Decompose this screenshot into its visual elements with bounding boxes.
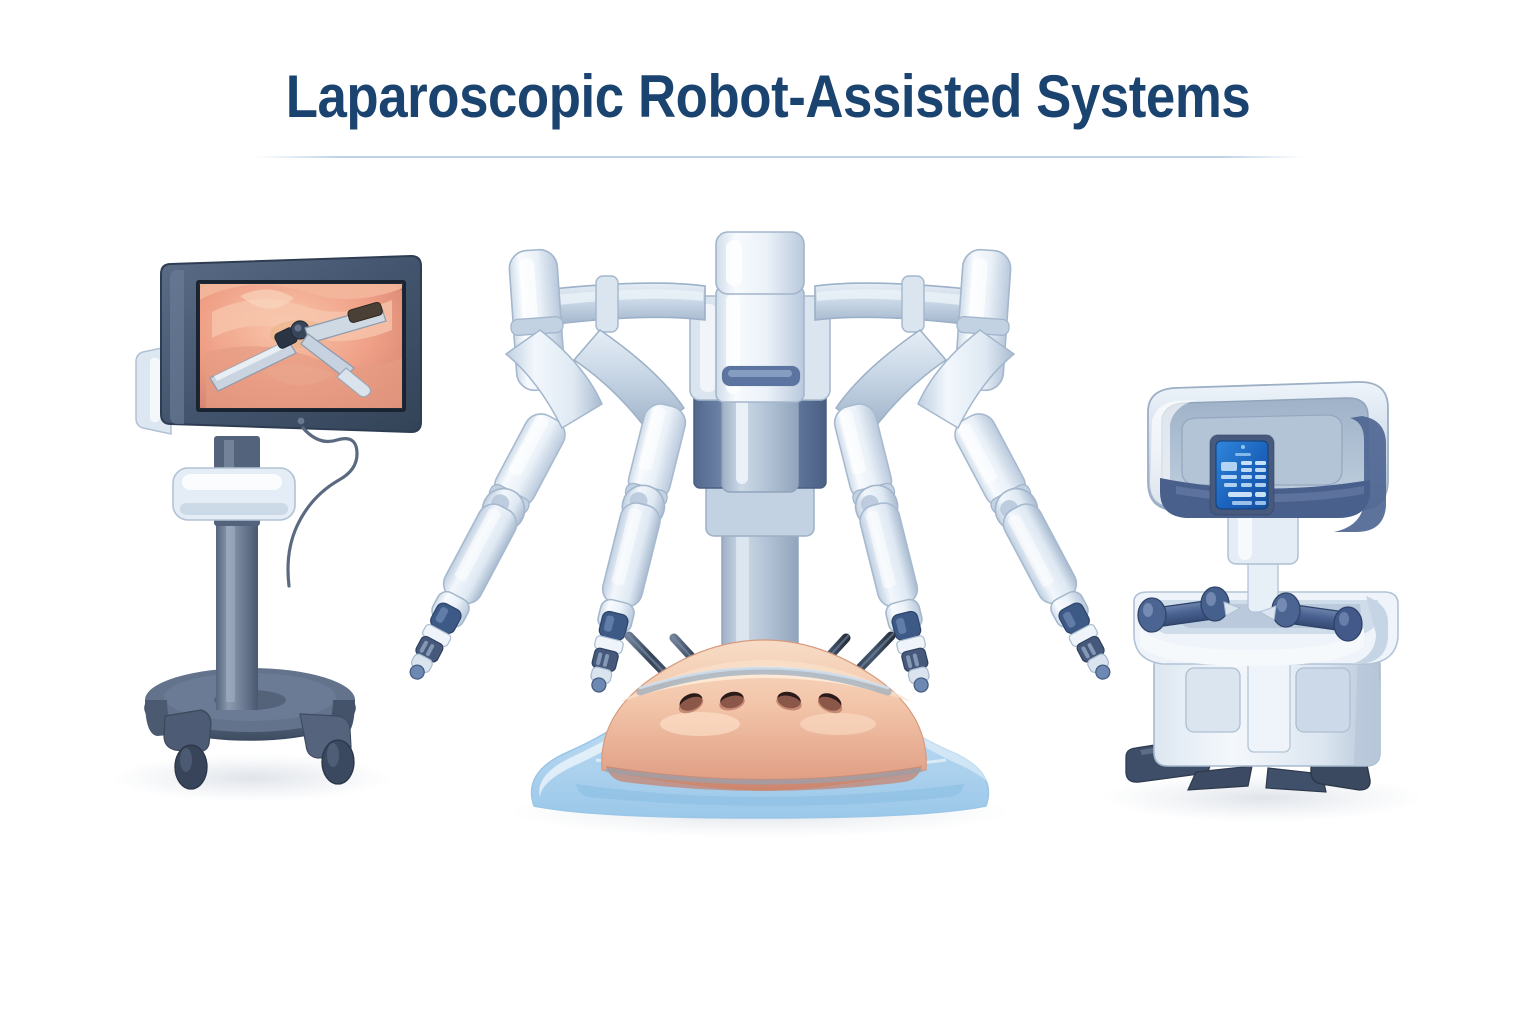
arm-4-shoulder [918,248,1014,428]
robotic-arm-2[interactable] [577,400,689,696]
monitor-bezel[interactable] [161,256,432,438]
medical-illustration [0,0,1536,1024]
robotic-arm-1[interactable] [395,408,571,688]
robotic-arm-4[interactable] [949,408,1125,688]
surgeon-console[interactable] [1126,382,1398,792]
robotic-arm-3[interactable] [831,400,943,696]
pole-collar[interactable] [173,468,295,520]
arm-1-shoulder [506,248,602,428]
power-cable [288,428,357,586]
vision-cart[interactable] [136,256,432,789]
viewing-hood[interactable] [1148,382,1388,532]
illustration-canvas: Laparoscopic Robot-Assisted Systems [0,0,1536,1024]
